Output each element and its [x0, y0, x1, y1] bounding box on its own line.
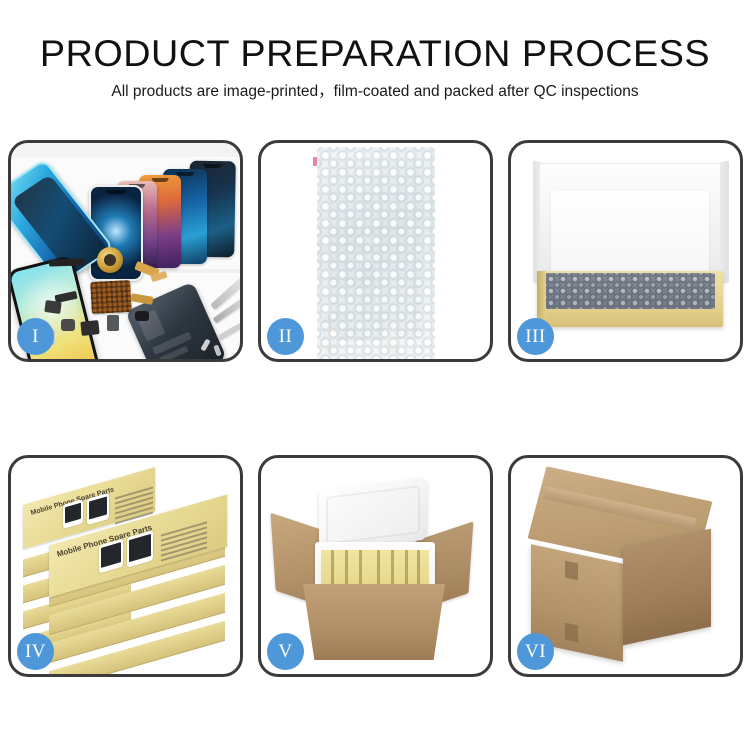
box-artwork-display: [129, 534, 151, 562]
step-badge-5: V: [267, 633, 304, 670]
process-steps-grid: 56 GB: [8, 140, 742, 677]
carton-handle-slot: [565, 623, 578, 643]
page-title: PRODUCT PREPARATION PROCESS: [0, 34, 750, 74]
speaker-coil-part: [97, 247, 123, 273]
step-badge-2: II: [267, 318, 304, 355]
small-component-part: [107, 315, 119, 331]
step-panel-2: II: [258, 140, 493, 362]
step-panel-4: Mobile Phone Spare Parts Mobile Phone Sp…: [8, 455, 243, 677]
step-panel-5: V: [258, 455, 493, 677]
logic-board-part: [90, 280, 132, 314]
flex-cable-part: [130, 293, 153, 305]
outer-carton-body: [303, 584, 445, 660]
bubble-wrap-layer: [317, 147, 435, 359]
bubble-wrapped-contents: [545, 273, 715, 309]
phone-notch: [176, 172, 194, 176]
repair-tool-driver: [217, 323, 240, 340]
step-panel-3: III: [508, 140, 743, 362]
earpiece-part: [49, 258, 85, 266]
step-panel-6: VI: [508, 455, 743, 677]
box-artwork-display: [89, 496, 107, 519]
step-panel-1: 56 GB: [8, 140, 243, 362]
small-component-part: [44, 300, 62, 314]
backdrop-band-top: [11, 143, 240, 157]
step-badge-1: I: [17, 318, 54, 355]
page-header: PRODUCT PREPARATION PROCESS All products…: [0, 0, 750, 102]
product-preparation-page: PRODUCT PREPARATION PROCESS All products…: [0, 0, 750, 750]
box-artwork-display: [65, 503, 81, 524]
step-badge-4: IV: [17, 633, 54, 670]
foam-sheet: [551, 191, 709, 277]
camera-part: [135, 311, 149, 321]
small-component-part: [80, 320, 99, 336]
carton-handle-slot: [565, 561, 578, 581]
small-component-part: [61, 319, 75, 331]
box-artwork-display: [101, 542, 121, 568]
carton-side-face: [623, 529, 711, 646]
step-badge-6: VI: [517, 633, 554, 670]
phone-notch: [204, 164, 222, 168]
step-badge-3: III: [517, 318, 554, 355]
phone-notch: [106, 190, 126, 194]
page-subtitle: All products are image-printed，film-coat…: [0, 83, 750, 102]
